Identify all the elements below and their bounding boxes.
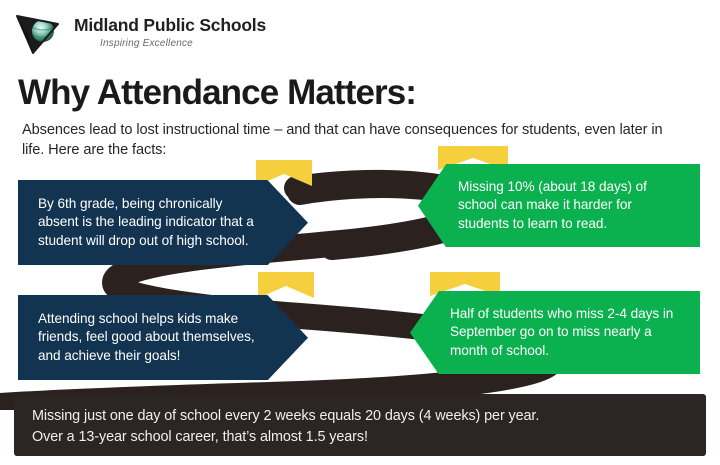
brand-name: Midland Public Schools (74, 17, 266, 35)
fact-box-4-text: Half of students who miss 2-4 days in Se… (450, 306, 673, 358)
page-title: Why Attendance Matters: (18, 75, 416, 110)
brand-logo-row: Midland Public Schools Inspiring Excelle… (14, 10, 266, 56)
summary-banner: Missing just one day of school every 2 w… (14, 394, 706, 456)
fact-box-1: By 6th grade, being chronically absent i… (18, 180, 308, 265)
brand-wordmark: Midland Public Schools Inspiring Excelle… (74, 17, 266, 49)
fact-box-3: Attending school helps kids make friends… (18, 295, 308, 380)
fact-box-4: Half of students who miss 2-4 days in Se… (410, 291, 700, 374)
fact-box-2-text: Missing 10% (about 18 days) of school ca… (458, 179, 647, 231)
summary-banner-line-2: Over a 13-year school career, that’s alm… (32, 427, 688, 448)
fact-box-1-text: By 6th grade, being chronically absent i… (38, 196, 254, 248)
summary-banner-line-1: Missing just one day of school every 2 w… (32, 406, 688, 427)
brand-tagline: Inspiring Excellence (100, 39, 266, 49)
fact-box-3-text: Attending school helps kids make friends… (38, 311, 255, 363)
fact-box-2: Missing 10% (about 18 days) of school ca… (418, 164, 700, 247)
midland-arrow-globe-logo-icon (14, 10, 66, 56)
infographic-canvas: Midland Public Schools Inspiring Excelle… (0, 0, 720, 465)
